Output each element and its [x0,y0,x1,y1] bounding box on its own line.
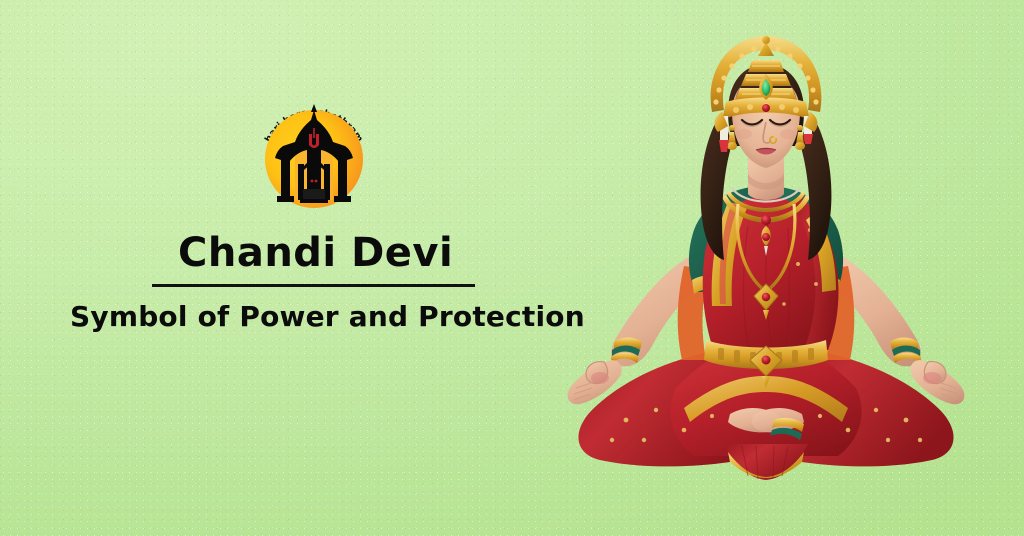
title-divider [152,284,475,287]
goddess-illustration [516,16,1016,486]
page-subtitle: Symbol of Power and Protection [70,300,585,333]
temple-gopuram-icon [265,104,363,208]
promo-banner: hari hara kshethram [0,0,1024,536]
page-title: Chandi Devi [178,230,453,276]
site-logo[interactable]: hari hara kshethram [253,88,375,210]
